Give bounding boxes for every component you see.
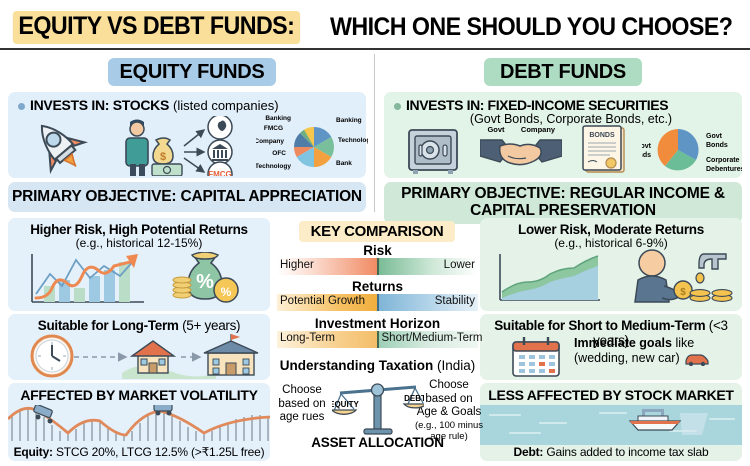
clock-to-house-illustration: [18, 333, 262, 379]
column-divider: [374, 54, 375, 212]
debt-funds-header: DEBT FUNDS: [484, 58, 642, 86]
equity-invests-panel: INVESTS IN: STOCKS (listed companies): [8, 92, 366, 178]
debt-invests-panel: INVESTS IN: FIXED-INCOME SECURITIES (Gov…: [384, 92, 742, 178]
taxation-title-bold: Understanding Taxation: [280, 358, 434, 373]
returns-right-text: Stability: [435, 295, 475, 307]
svg-text:FMCG: FMCG: [208, 170, 232, 176]
equity-box3-title: AFFECTED BY MARKET VOLATILITY: [8, 383, 270, 403]
growth-chart-illustration: [26, 252, 150, 308]
bonds-label: BONDS: [589, 132, 615, 139]
debt-stability-box: LESS AFFECTED BY STOCK MARKET swings Deb…: [480, 383, 742, 461]
svg-text:$: $: [160, 151, 166, 163]
immediate-goals-line2: (wedding, new car): [574, 351, 680, 366]
risk-bar-divider: [377, 258, 379, 275]
equity-box1-title: Higher Risk, High Potential Returns: [8, 218, 270, 237]
taxation-title: Understanding Taxation (India): [270, 358, 485, 373]
asset-allocation-scale: Choose based on age rues Choose based on…: [270, 377, 485, 447]
debt-pie-label-corporate: Corporate: [706, 157, 740, 164]
debt-objective-line1: PRIMARY OBJECTIVE: REGULAR INCOME &: [401, 186, 725, 203]
handshake-illustration: Govt Company: [480, 124, 562, 174]
calm-sea-boat-illustration: [480, 405, 742, 445]
equity-box2-title-bold: Suitable for Long-Term: [38, 318, 179, 333]
equity-volatility-box: AFFECTED BY MARKET VOLATILITY: [8, 383, 270, 461]
horizon-bar-divider: [377, 331, 379, 348]
svg-text:%: %: [196, 271, 214, 293]
title-highlight: EQUITY VS DEBT FUNDS:: [13, 11, 300, 44]
comparison-label-returns: Returns: [270, 279, 485, 294]
returns-bar-divider: [377, 294, 379, 311]
equity-objective-bar: PRIMARY OBJECTIVE: CAPITAL APPRECIATION: [8, 182, 366, 212]
equity-sector-pie-chart: Banking FMCG Company OFC Technology Bank…: [256, 112, 368, 178]
handshake-label-govt: Govt: [487, 125, 505, 134]
handshake-label-company: Company: [521, 125, 556, 134]
debt-immediate-goals-note: Immediate goals like (wedding, new car): [574, 336, 738, 366]
rocket-icon: [22, 116, 94, 174]
equity-risk-return-box: Higher Risk, High Potential Returns (e.g…: [8, 218, 270, 311]
debt-box1-title: Lower Risk, Moderate Returns: [480, 218, 742, 237]
equity-horizon-box: Suitable for Long-Term (5+ years): [8, 314, 270, 380]
debt-tax-footer: Debt: Gains added to income tax slab: [480, 445, 742, 459]
debt-box2-title-bold: Suitable for Short to Medium-Term: [494, 318, 705, 333]
pie-label-fmcg: FMCG: [264, 125, 283, 132]
svg-text:$: $: [680, 287, 686, 298]
comparison-bar-horizon: Long-Term Short/Medium-Term: [277, 331, 478, 348]
calendar-icon: [510, 336, 562, 378]
immediate-goals-bold: Immediate goals: [574, 336, 672, 350]
equity-tax-footer: Equity: STCG 20%, LTCG 12.5% (>₹1.25L fr…: [8, 445, 270, 459]
balance-scale-icon: EQUITY DEBT: [332, 377, 424, 441]
car-icon: [684, 352, 710, 366]
bullet-icon: [394, 103, 401, 110]
equity-funds-header: EQUITY FUNDS: [108, 58, 276, 86]
pie-label-ofc: OFC: [272, 150, 286, 157]
infographic-page: EQUITY VS DEBT FUNDS: WHICH ONE SHOULD Y…: [0, 0, 750, 466]
equity-invests-label: INVESTS IN: STOCKS: [30, 97, 169, 113]
equity-box2-title-light: (5+ years): [182, 318, 240, 333]
percent-money-bag-icon: % %: [168, 252, 254, 308]
equity-tax-label: Equity:: [14, 445, 53, 459]
svg-text:%: %: [221, 285, 232, 299]
scale-pan-label-debt: DEBT: [404, 394, 424, 403]
comparison-bar-risk: Higher Lower: [277, 258, 478, 275]
safe-icon: [406, 128, 460, 174]
debt-pie-label-govt-left: Govt: [642, 143, 652, 150]
roller-coaster-illustration: [8, 405, 270, 443]
comparison-bar-returns: Potential Growth Stability: [277, 294, 478, 311]
debt-pie-label-bonds-left: Bonds: [642, 152, 651, 159]
steady-growth-area-chart: [494, 252, 606, 306]
page-title: EQUITY VS DEBT FUNDS: WHICH ONE SHOULD Y…: [0, 6, 750, 48]
income-tap-coins-illustration: $: [620, 248, 738, 308]
debt-horizon-box: Suitable for Short to Medium-Term (<3 ye…: [480, 314, 742, 380]
pie-label-bank: Bank: [336, 160, 352, 167]
debt-pie-label-bonds: Bonds: [706, 142, 728, 149]
horizon-right-text: Short/Medium-Term: [382, 332, 483, 344]
debt-pie-label-govt: Govt: [706, 133, 723, 140]
pie-label-company: Company: [256, 138, 284, 145]
taxation-title-light: (India): [437, 358, 475, 373]
debt-tax-label: Debt:: [514, 445, 544, 459]
debt-invests-label: INVESTS IN: FIXED-INCOME SECURITIES: [406, 97, 668, 113]
scale-pan-label-equity: EQUITY: [332, 400, 360, 409]
immediate-goals-light: like: [675, 336, 694, 350]
comparison-label-risk: Risk: [270, 243, 485, 258]
returns-left-text: Potential Growth: [280, 295, 365, 307]
debt-composition-pie-chart: Govt Bonds Govt Bonds Corporate Debentur…: [642, 124, 742, 176]
comparison-label-horizon: Investment Horizon: [270, 316, 485, 331]
horizon-left-text: Long-Term: [280, 332, 335, 344]
equity-box2-title: Suitable for Long-Term (5+ years): [8, 314, 270, 333]
debt-tax-value: Gains added to income tax slab: [546, 445, 708, 459]
investor-stocks-illustration: $ FMCG: [112, 116, 254, 176]
scale-left-note: Choose based on age rues: [271, 384, 333, 425]
equity-box1-sub: (e.g., historical 12-15%): [8, 236, 270, 250]
pie-label-technology-right: Technology: [338, 137, 368, 144]
bond-certificate-icon: BONDS: [580, 124, 632, 174]
title-underline: [0, 48, 750, 50]
pie-label-technology-left: Technology: [256, 163, 291, 170]
risk-left-text: Higher: [280, 259, 314, 271]
debt-risk-return-box: Lower Risk, Moderate Returns (e.g., hist…: [480, 218, 742, 311]
equity-invests-note: (listed companies): [173, 98, 279, 113]
bullet-icon: [18, 103, 25, 110]
key-comparison-heading: KEY COMPARISON: [299, 221, 455, 242]
pie-label-banking-left: Banking: [265, 115, 291, 122]
asset-allocation-label: ASSET ALLOCATION: [270, 435, 485, 450]
debt-box3-title-bold: LESS AFFECTED BY STOCK MARKET: [488, 387, 733, 403]
debt-pie-label-debentures: Debentures: [706, 166, 742, 173]
risk-right-text: Lower: [444, 259, 475, 271]
title-rest: WHICH ONE SHOULD YOU CHOOSE?: [326, 13, 733, 42]
coaster-car-2: [154, 405, 172, 416]
equity-tax-value: STCG 20%, LTCG 12.5% (>₹1.25L free): [56, 445, 264, 459]
pie-label-banking-right: Banking: [336, 117, 362, 124]
